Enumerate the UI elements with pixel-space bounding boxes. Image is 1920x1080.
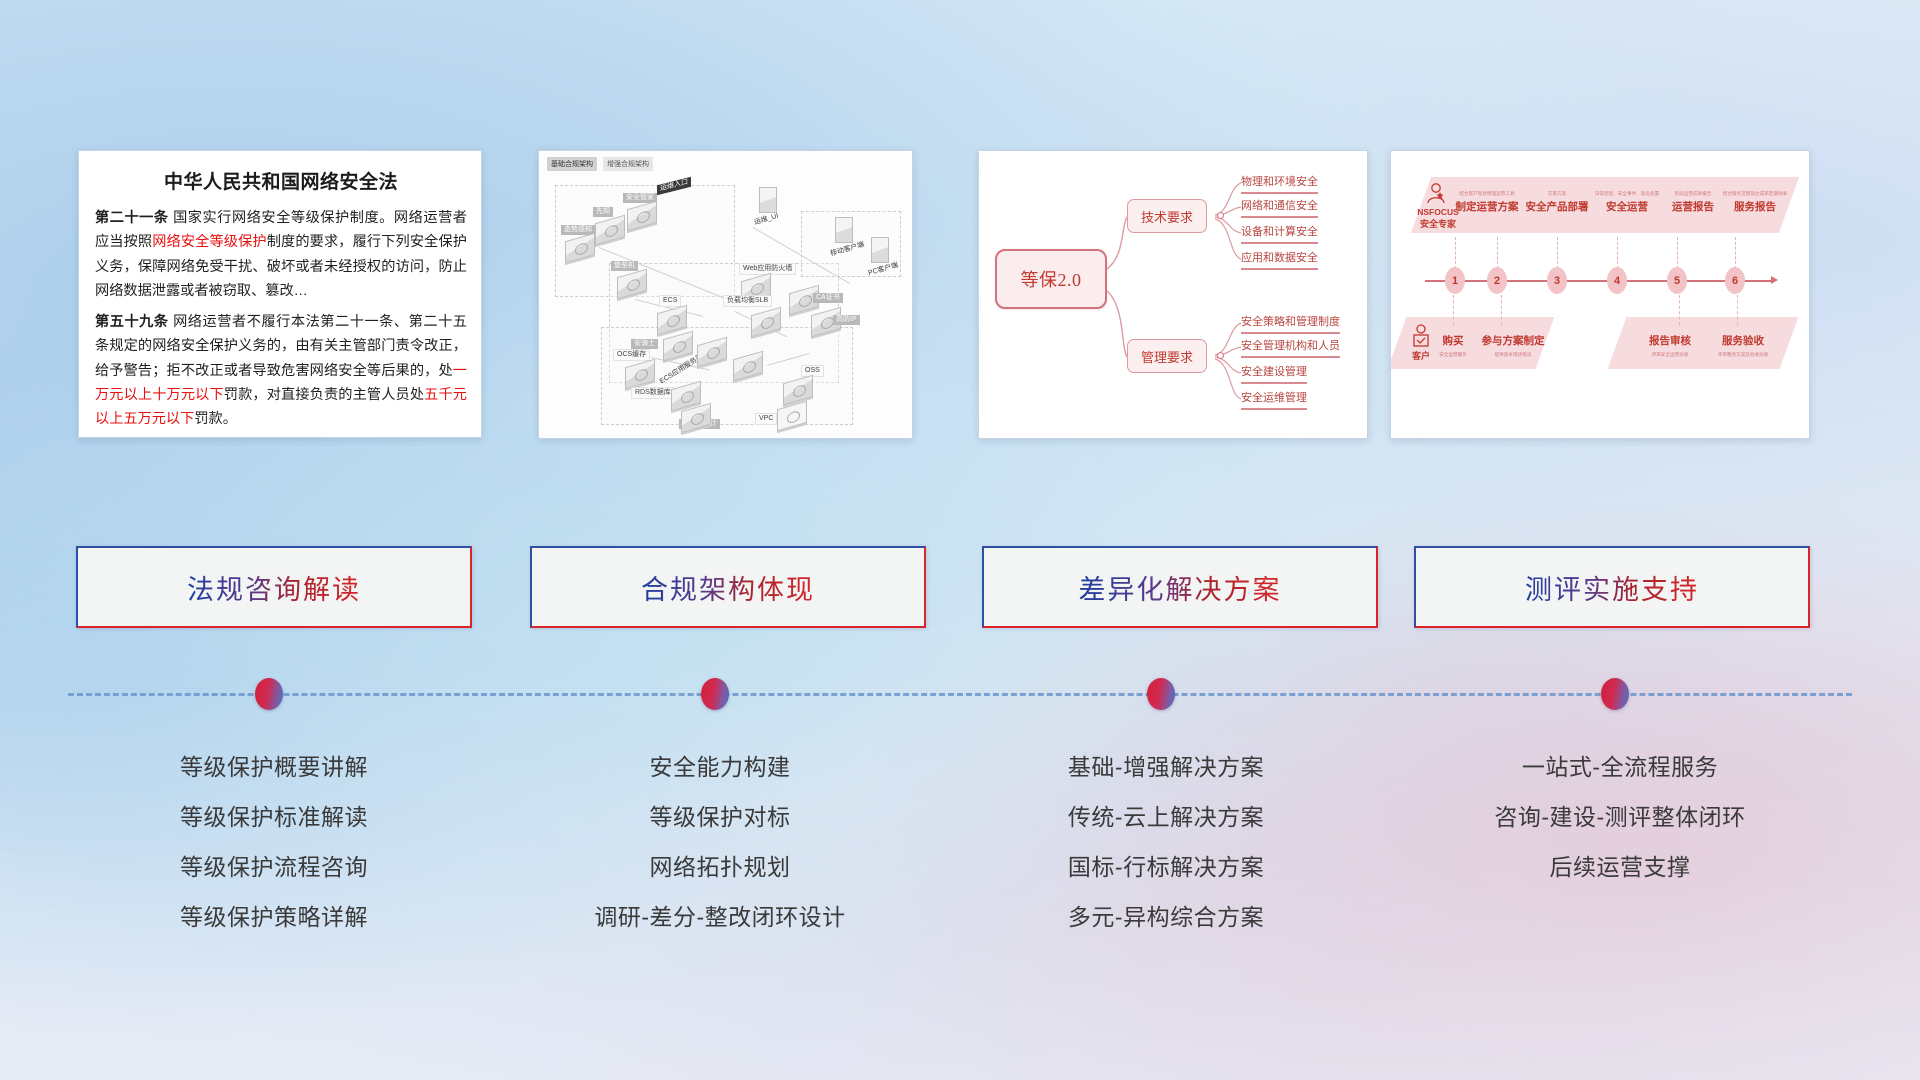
mindmap-canvas: 等保2.0 技术要求 物理和环境安全 网络和通信安全 设备和计算安全 应用和数据…	[979, 151, 1367, 438]
headline-label: 测评实施支持	[1525, 568, 1699, 607]
list-item: 调研-差分-整改闭环设计	[505, 892, 935, 942]
list-item: 国标-行标解决方案	[951, 842, 1381, 892]
list-item: 一站式-全流程服务	[1405, 742, 1835, 792]
architecture-node-pc-client: PC客户端	[871, 237, 889, 263]
architecture-node-slb: 负载均衡SLB	[751, 311, 781, 333]
law-article-number-59: 第五十九条	[95, 314, 169, 330]
list-item: 等级保护概要讲解	[59, 742, 489, 792]
architecture-node-label: 堡垒机	[611, 261, 638, 271]
nsfocus-node-1: 1	[1445, 267, 1465, 294]
nsfocus-axis-line	[1425, 280, 1773, 282]
list-item: 等级保护对标	[505, 792, 935, 842]
architecture-node-label: 先知	[593, 207, 613, 217]
nsfocus-axis-arrow-icon	[1771, 276, 1778, 284]
architecture-diagram: 基础合规架构 增强合规架构 态势感知 先知	[539, 151, 912, 438]
mindmap-leaf-policy-system: 安全策略和管理制度	[1241, 313, 1340, 334]
mindmap-collapse-dot-management[interactable]	[1217, 352, 1224, 359]
nsfocus-bottom-step-1: 购买 安全运营服务	[1429, 333, 1477, 360]
architecture-node-label: CA证书	[813, 293, 843, 303]
nsfocus-tick-3	[1557, 237, 1558, 269]
nsfocus-tick-6	[1735, 237, 1736, 269]
list-item: 网络拓扑规划	[505, 842, 935, 892]
mindmap-leaf-construction-mgmt: 安全建设管理	[1241, 363, 1307, 384]
architecture-node-situation-awareness: 态势感知	[565, 237, 595, 259]
headline-box-evaluation-support[interactable]: 测评实施支持	[1414, 546, 1810, 628]
nsfocus-tick-5	[1677, 237, 1678, 269]
timeline-dashed-line	[68, 693, 1852, 696]
architecture-node-ca-cert: CA证书	[789, 289, 819, 311]
mindmap-leaf-ops-mgmt: 安全运维管理	[1241, 389, 1307, 410]
architecture-node-db-audit: 数据库审计	[681, 407, 711, 429]
nsfocus-top-step-5: 结合服务范围及达成率定期效果 服务报告	[1721, 191, 1789, 214]
architecture-node-label: 安骑士	[631, 339, 658, 349]
nsfocus-node-5: 5	[1667, 267, 1687, 294]
architecture-node-ecs: ECS	[657, 309, 687, 331]
feature-list-regulation-consulting: 等级保护概要讲解 等级保护标准解读 等级保护流程咨询 等级保护策略详解	[59, 742, 489, 942]
law-paragraph-21: 第二十一条 国家实行网络安全等级保护制度。网络运营者应当按照网络安全等级保护制度…	[95, 206, 467, 304]
architecture-node-ecs-cluster: ECS应用服务器集群	[697, 341, 727, 363]
mindmap-leaf-org-personnel: 安全管理机构和人员	[1241, 337, 1340, 358]
card-compliance-architecture: 基础合规架构 增强合规架构 态势感知 先知	[538, 150, 913, 439]
nsfocus-tick-b3	[1679, 295, 1680, 325]
nsfocus-tick-2	[1497, 237, 1498, 269]
headline-label: 差异化解决方案	[1079, 568, 1282, 607]
nsfocus-top-step-2: 实施方案 安全产品部署	[1523, 191, 1591, 214]
reference-cards-row: 中华人民共和国网络安全法 第二十一条 国家实行网络安全等级保护制度。网络运营者应…	[0, 150, 1920, 442]
list-item: 后续运营支撑	[1405, 842, 1835, 892]
architecture-node-label: 运维_UI	[750, 211, 782, 229]
law-text-59-after: 罚款。	[194, 411, 237, 427]
nsfocus-node-2: 2	[1487, 267, 1507, 294]
architecture-tab-enhanced: 增强合规架构	[603, 157, 653, 171]
nsfocus-top-step-4: 阶段运营成果报告 运营报告	[1659, 191, 1727, 214]
architecture-node-vpc: VPC	[777, 405, 807, 427]
nsfocus-tick-4	[1617, 237, 1618, 269]
law-highlight-21: 网络安全等级保护	[152, 234, 267, 250]
architecture-node-label: 负载均衡SLB	[723, 295, 772, 307]
mindmap-leaf-network-comm: 网络和通信安全	[1241, 197, 1318, 218]
architecture-node-ops-ui: 运维_UI	[759, 187, 777, 213]
mindmap-branch-management: 管理要求	[1127, 339, 1207, 373]
card-dengbao-mindmap: 等保2.0 技术要求 物理和环境安全 网络和通信安全 设备和计算安全 应用和数据…	[978, 150, 1368, 439]
law-title: 中华人民共和国网络安全法	[95, 167, 467, 194]
headline-label: 合规架构体现	[641, 568, 815, 607]
nsfocus-timeline: NSFOCUS 安全专家 客户 结合客户现状梳理运营工具 制定运营方案 实施方案…	[1391, 151, 1809, 438]
nsfocus-bottom-step-2: 参与方案制定 提供基本现状情况	[1477, 333, 1549, 360]
list-item: 传统-云上解决方案	[951, 792, 1381, 842]
mindmap-collapse-dot-technical[interactable]	[1217, 212, 1224, 219]
law-article-number-21: 第二十一条	[95, 210, 169, 226]
headline-box-differentiated-solution[interactable]: 差异化解决方案	[982, 546, 1378, 628]
architecture-node-label: OCS缓存	[613, 349, 650, 361]
headline-label: 法规咨询解读	[187, 568, 361, 607]
timeline-dot-3[interactable]	[1147, 678, 1175, 710]
card-nsfocus-service-timeline: NSFOCUS 安全专家 客户 结合客户现状梳理运营工具 制定运营方案 实施方案…	[1390, 150, 1810, 439]
architecture-node-label: RDS数据库	[631, 387, 675, 399]
architecture-node-ecs-cluster-2	[733, 355, 763, 377]
mindmap-root-node: 等保2.0	[995, 249, 1107, 309]
law-text-59-mid: 罚款，对直接负责的主管人员处	[224, 387, 424, 403]
nsfocus-node-6: 6	[1725, 267, 1745, 294]
list-item: 等级保护流程咨询	[59, 842, 489, 892]
architecture-node-security-butler: 安全管家	[627, 205, 657, 227]
list-item: 安全能力构建	[505, 742, 935, 792]
mindmap-leaf-device-compute: 设备和计算安全	[1241, 223, 1318, 244]
architecture-node-bastion-host: 堡垒机	[617, 273, 647, 295]
feature-list-evaluation-support: 一站式-全流程服务 咨询-建设-测评整体闭环 后续运营支撑	[1405, 742, 1835, 892]
nsfocus-tick-1	[1455, 237, 1456, 269]
nsfocus-node-4: 4	[1607, 267, 1627, 294]
architecture-tab-bar: 基础合规架构 增强合规架构	[547, 157, 653, 171]
architecture-node-mobile-client: 移动客户端	[835, 217, 853, 243]
architecture-node-oss: OSS	[783, 379, 813, 401]
architecture-node-xianzhi: 先知	[595, 219, 625, 241]
list-item: 等级保护标准解读	[59, 792, 489, 842]
nsfocus-bottom-step-3: 报告审核 评审安全运营效果	[1639, 333, 1701, 360]
nsfocus-bottom-step-4: 服务验收 评审整改方案及验收效果	[1707, 333, 1779, 360]
architecture-node-rds: RDS数据库	[671, 385, 701, 407]
nsfocus-top-step-1: 结合客户现状梳理运营工具 制定运营方案	[1453, 191, 1521, 214]
architecture-tab-basic: 基础合规架构	[547, 157, 597, 171]
timeline-dot-2[interactable]	[701, 678, 729, 710]
feature-list-differentiated-solution: 基础-增强解决方案 传统-云上解决方案 国标-行标解决方案 多元-异构综合方案	[951, 742, 1381, 942]
mindmap-leaf-physical-env: 物理和环境安全	[1241, 173, 1318, 194]
architecture-node-anqishi: 安骑士	[663, 335, 693, 357]
headline-box-compliance-architecture[interactable]: 合规架构体现	[530, 546, 926, 628]
architecture-node-label: ECS	[659, 295, 681, 307]
mindmap-branch-technical: 技术要求	[1127, 199, 1207, 233]
list-item: 多元-异构综合方案	[951, 892, 1381, 942]
timeline-dot-1[interactable]	[255, 678, 283, 710]
list-item: 基础-增强解决方案	[951, 742, 1381, 792]
list-item: 等级保护策略详解	[59, 892, 489, 942]
nsfocus-tick-b2	[1501, 295, 1502, 325]
law-paragraph-59: 第五十九条 网络运营者不履行本法第二十一条、第二十五条规定的网络安全保护义务的，…	[95, 310, 467, 432]
nsfocus-tick-b4	[1737, 295, 1738, 325]
card-cybersecurity-law: 中华人民共和国网络安全法 第二十一条 国家实行网络安全等级保护制度。网络运营者应…	[78, 150, 482, 438]
feature-list-compliance-architecture: 安全能力构建 等级保护对标 网络拓扑规划 调研-差分-整改闭环设计	[505, 742, 935, 942]
list-item: 咨询-建设-测评整体闭环	[1405, 792, 1835, 842]
nsfocus-node-3: 3	[1547, 267, 1567, 294]
nsfocus-tick-b1	[1453, 295, 1454, 325]
timeline-dot-4[interactable]	[1601, 678, 1629, 710]
mindmap-leaf-app-data: 应用和数据安全	[1241, 249, 1318, 270]
headline-box-regulation-consulting[interactable]: 法规咨询解读	[76, 546, 472, 628]
architecture-node-ocs-cache: OCS缓存	[625, 363, 655, 385]
expert-person-icon	[1423, 181, 1449, 207]
architecture-node-label: 高防IP	[833, 315, 860, 325]
architecture-node-label: VPC	[755, 413, 777, 425]
architecture-node-anti-ddos-ip: 高防IP	[811, 311, 841, 333]
nsfocus-top-step-3: 日常巡检、安全事件、高危处置 安全运营	[1593, 191, 1661, 214]
